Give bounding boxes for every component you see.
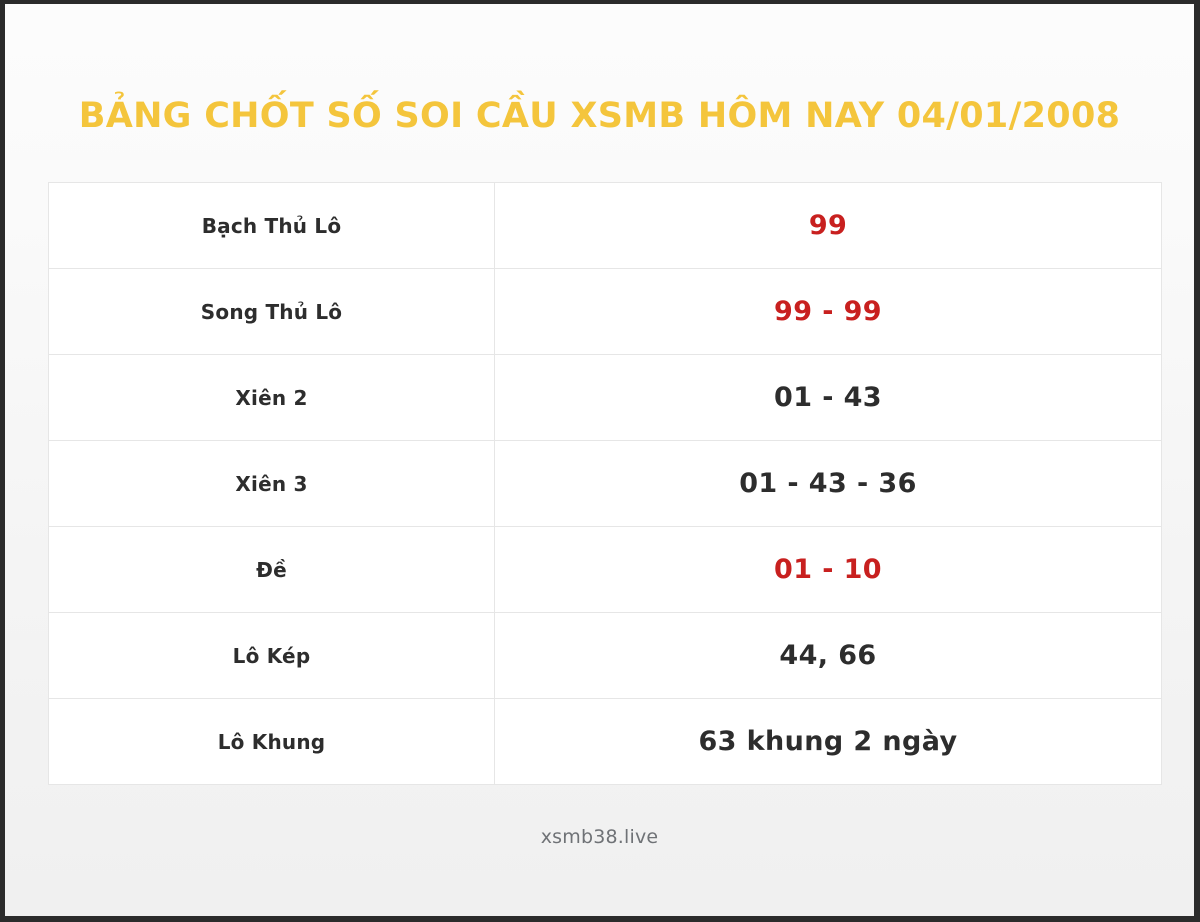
image-frame: BẢNG CHỐT SỐ SOI CẦU XSMB HÔM NAY 04/01/… xyxy=(0,0,1200,922)
row-value-cell: 01 - 43 - 36 xyxy=(495,441,1162,527)
row-value-cell: 01 - 43 xyxy=(495,355,1162,441)
prediction-table-body: Bạch Thủ Lô99Song Thủ Lô99 - 99Xiên 201 … xyxy=(49,183,1162,785)
page-title: BẢNG CHỐT SỐ SOI CẦU XSMB HÔM NAY 04/01/… xyxy=(79,96,1121,136)
row-value-cell: 44, 66 xyxy=(495,613,1162,699)
row-label: Song Thủ Lô xyxy=(201,300,342,324)
row-label: Lô Khung xyxy=(218,730,326,754)
row-label-cell: Lô Kép xyxy=(49,613,495,699)
row-label: Xiên 3 xyxy=(235,472,307,496)
row-value: 44, 66 xyxy=(779,640,876,671)
row-value-highlighted: 99 - 99 xyxy=(774,296,882,327)
page-title-container: BẢNG CHỐT SỐ SOI CẦU XSMB HÔM NAY 04/01/… xyxy=(5,96,1194,136)
table-row: Song Thủ Lô99 - 99 xyxy=(49,269,1162,355)
row-value-cell: 99 xyxy=(495,183,1162,269)
table-row: Xiên 301 - 43 - 36 xyxy=(49,441,1162,527)
page-canvas: BẢNG CHỐT SỐ SOI CẦU XSMB HÔM NAY 04/01/… xyxy=(5,4,1194,916)
row-label-cell: Đề xyxy=(49,527,495,613)
row-label-cell: Lô Khung xyxy=(49,699,495,785)
row-label: Đề xyxy=(256,558,287,582)
table-row: Lô Khung63 khung 2 ngày xyxy=(49,699,1162,785)
prediction-table-container: Bạch Thủ Lô99Song Thủ Lô99 - 99Xiên 201 … xyxy=(48,182,1161,785)
row-value: 63 khung 2 ngày xyxy=(698,726,957,757)
row-label-cell: Bạch Thủ Lô xyxy=(49,183,495,269)
row-value-cell: 01 - 10 xyxy=(495,527,1162,613)
row-value-highlighted: 99 xyxy=(809,210,847,241)
row-label: Bạch Thủ Lô xyxy=(202,214,342,238)
row-label: Xiên 2 xyxy=(235,386,307,410)
table-row: Bạch Thủ Lô99 xyxy=(49,183,1162,269)
row-value-cell: 63 khung 2 ngày xyxy=(495,699,1162,785)
row-value: 01 - 43 xyxy=(774,382,882,413)
row-label-cell: Xiên 3 xyxy=(49,441,495,527)
row-label-cell: Xiên 2 xyxy=(49,355,495,441)
row-value: 01 - 43 - 36 xyxy=(739,468,917,499)
row-label-cell: Song Thủ Lô xyxy=(49,269,495,355)
table-row: Lô Kép44, 66 xyxy=(49,613,1162,699)
prediction-table: Bạch Thủ Lô99Song Thủ Lô99 - 99Xiên 201 … xyxy=(48,182,1162,785)
site-watermark: xsmb38.live xyxy=(541,826,659,848)
row-value-highlighted: 01 - 10 xyxy=(774,554,882,585)
footer: xsmb38.live xyxy=(5,826,1194,848)
row-label: Lô Kép xyxy=(233,644,311,668)
table-row: Đề01 - 10 xyxy=(49,527,1162,613)
table-row: Xiên 201 - 43 xyxy=(49,355,1162,441)
row-value-cell: 99 - 99 xyxy=(495,269,1162,355)
